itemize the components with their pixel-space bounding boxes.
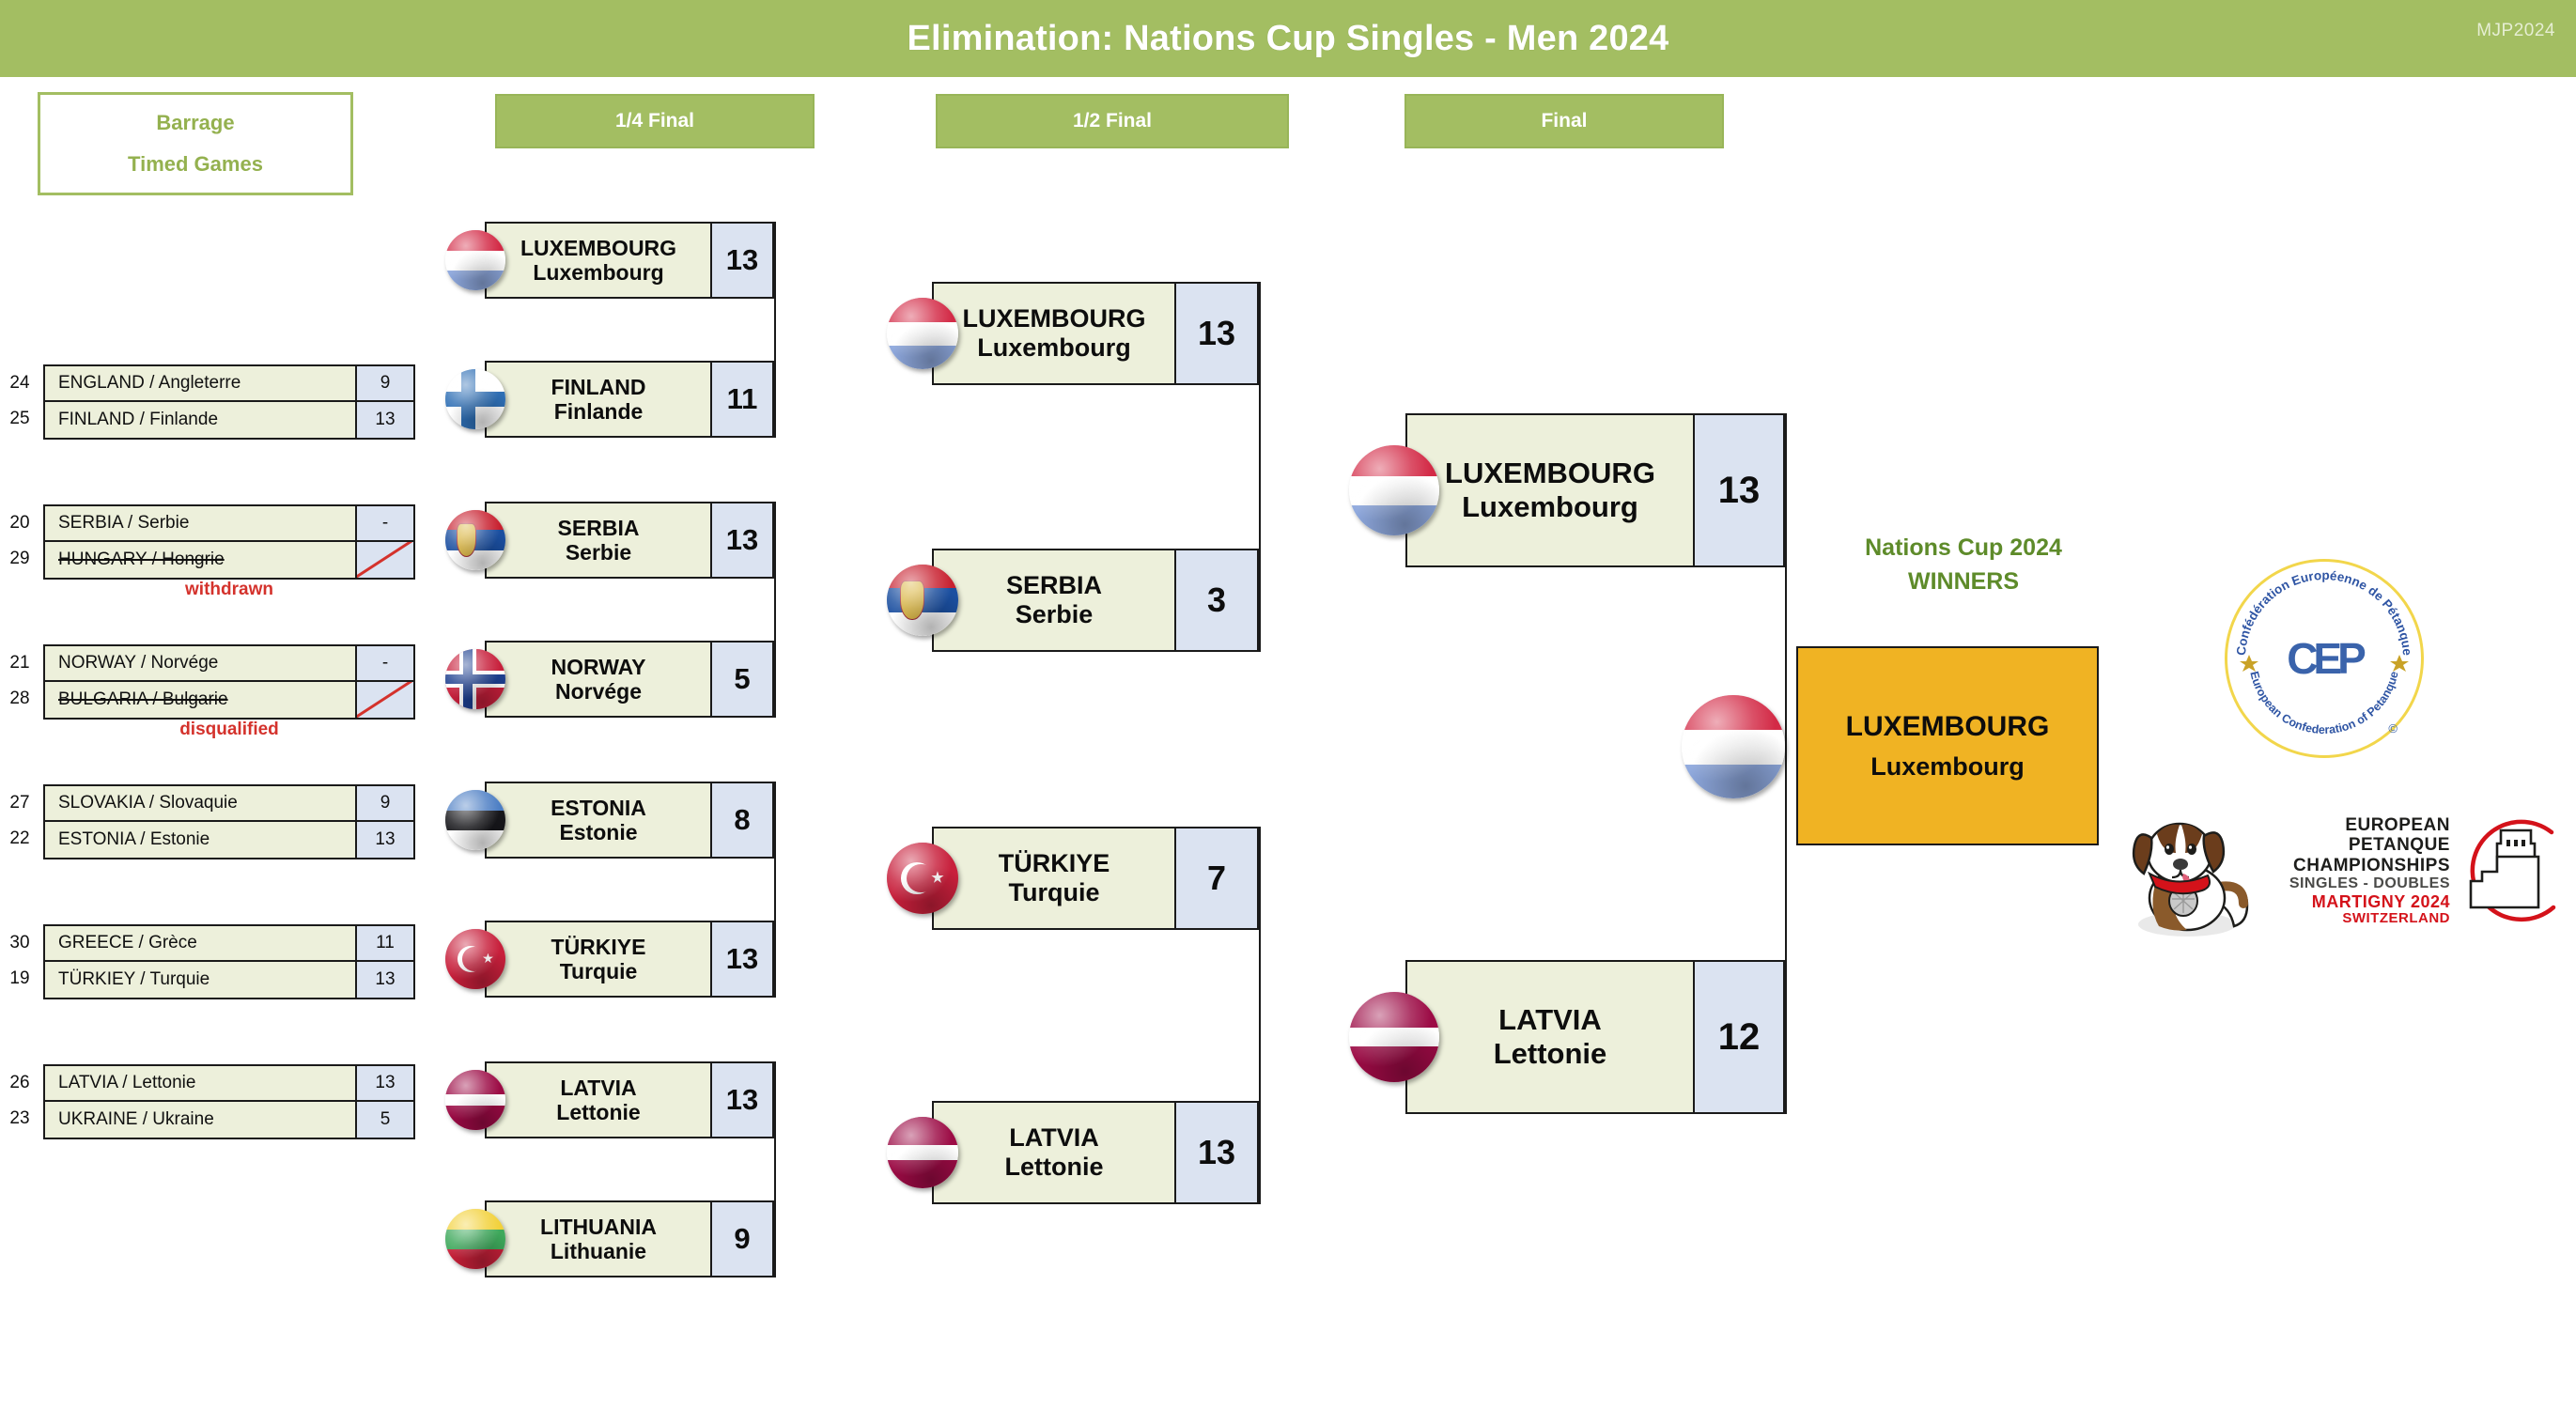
connector-qf-1 [774, 222, 776, 438]
barrage-score: 13 [355, 822, 413, 858]
qf-match-4-name: NORWAYNorvége [487, 643, 710, 716]
sf-match-2-name: SERBIASerbie [934, 550, 1174, 650]
connector-sf-2 [1259, 827, 1261, 1204]
barrage-team-name: SERBIA / Serbie [45, 506, 355, 540]
sf-match-4-name-fr: Lettonie [1005, 1153, 1104, 1182]
qf-match-3-score: 13 [710, 503, 772, 577]
barrage-row: UKRAINE / Ukraine5 [45, 1102, 413, 1138]
final-match-1-flag-luxembourg [1349, 445, 1439, 535]
round-label-final: Final [1404, 94, 1724, 148]
barrage-score: 5 [355, 1102, 413, 1138]
martigny-line-6: SWITZERLAND [2266, 911, 2450, 927]
sf-match-4-score: 13 [1174, 1103, 1257, 1202]
barrage-table-2: SERBIA / Serbie-HUNGARY / Hongrie [43, 504, 415, 580]
qf-match-2-name-en: FINLAND [551, 375, 646, 399]
barrage-row: ESTONIA / Estonie13 [45, 822, 413, 858]
round-label-barrage: Barrage Timed Games [38, 92, 353, 195]
qf-match-2-name-fr: Finlande [554, 399, 644, 424]
qf-match-5-score: 8 [710, 783, 772, 857]
qf-match-7-flag-latvia [445, 1070, 505, 1130]
sf-match-2-name-en: SERBIA [1006, 571, 1102, 600]
barrage-score: 13 [355, 1066, 413, 1100]
qf-match-8-flag-lithuania [445, 1209, 505, 1269]
qf-match-7-name-fr: Lettonie [556, 1100, 640, 1124]
barrage-team-name: HUNGARY / Hongrie [45, 542, 355, 578]
barrage-score: 13 [355, 962, 413, 998]
qf-match-6[interactable]: TÜRKIYETurquie13 [485, 921, 774, 998]
page-header: Elimination: Nations Cup Singles - Men 2… [0, 0, 2576, 77]
page-title: Elimination: Nations Cup Singles - Men 2… [908, 19, 1669, 59]
martigny-line-1: EUROPEAN [2266, 815, 2450, 835]
connector-qf-4 [774, 1061, 776, 1277]
barrage-seed: 20 [0, 513, 39, 534]
sf-match-1[interactable]: LUXEMBOURGLuxembourg13 [932, 282, 1259, 385]
barrage-team-name: UKRAINE / Ukraine [45, 1102, 355, 1138]
sf-match-3-name-en: TÜRKIYE [999, 849, 1110, 878]
barrage-sublabel-text: Timed Games [128, 152, 263, 177]
barrage-table-4: SLOVAKIA / Slovaquie9ESTONIA / Estonie13 [43, 784, 415, 859]
barrage-row: HUNGARY / Hongrie [45, 542, 413, 578]
barrage-row: TÜRKIEY / Turquie13 [45, 962, 413, 998]
barrage-row: LATVIA / Lettonie13 [45, 1066, 413, 1102]
sf-match-2-flag-serbia [887, 565, 958, 636]
final-match-1-name: LUXEMBOURGLuxembourg [1407, 415, 1693, 565]
final-match-1[interactable]: LUXEMBOURGLuxembourg13 [1405, 413, 1785, 567]
barrage-team-name: GREECE / Grèce [45, 926, 355, 960]
barrage-seed: 26 [0, 1073, 39, 1093]
qf-match-4-score: 5 [710, 643, 772, 716]
round-label-semi-final: 1/2 Final [936, 94, 1289, 148]
qf-match-7-name-en: LATVIA [560, 1076, 636, 1100]
winner-name-fr: Luxembourg [1870, 752, 2025, 782]
watermark-label: MJP2024 [2476, 21, 2555, 41]
qf-match-6-flag-turkiye [445, 929, 505, 989]
barrage-seed: 25 [0, 409, 39, 429]
cep-logo: Confédération Européenne de Pétanque Eur… [2225, 559, 2424, 758]
qf-match-3-name-fr: Serbie [566, 540, 631, 565]
sf-match-4-name-en: LATVIA [1009, 1123, 1099, 1153]
barrage-row: BULGARIA / Bulgarie [45, 682, 413, 718]
martigny-logo-text: EUROPEAN PETANQUE CHAMPIONSHIPS SINGLES … [2266, 815, 2450, 927]
sf-match-1-name-en: LUXEMBOURG [963, 304, 1146, 333]
final-match-2-name-fr: Lettonie [1494, 1037, 1607, 1071]
barrage-team-name: ENGLAND / Angleterre [45, 366, 355, 400]
final-match-2-name: LATVIALettonie [1407, 962, 1693, 1112]
cep-copyright: © [2388, 721, 2398, 735]
barrage-seed: 24 [0, 373, 39, 394]
martigny-line-3: CHAMPIONSHIPS [2266, 856, 2450, 875]
connector-final-1 [1785, 413, 1787, 1114]
barrage-score [355, 682, 413, 718]
barrage-team-name: ESTONIA / Estonie [45, 822, 355, 858]
qf-match-5[interactable]: ESTONIAEstonie8 [485, 782, 774, 859]
qf-match-7-score: 13 [710, 1063, 772, 1137]
sf-match-4-flag-latvia [887, 1117, 958, 1188]
qf-match-2-score: 11 [710, 363, 772, 436]
martigny-logo: EUROPEAN PETANQUE CHAMPIONSHIPS SINGLES … [2125, 808, 2548, 949]
round-label-quarter-final: 1/4 Final [495, 94, 815, 148]
qf-match-3-name-en: SERBIA [558, 516, 640, 540]
qf-match-1-name-fr: Luxembourg [533, 260, 663, 285]
qf-match-7-name: LATVIALettonie [487, 1063, 710, 1137]
qf-match-8-score: 9 [710, 1202, 772, 1276]
barrage-table-1: ENGLAND / Angleterre9FINLAND / Finlande1… [43, 364, 415, 440]
barrage-row: GREECE / Grèce11 [45, 926, 413, 962]
winner-caption-line1: Nations Cup 2024 [1808, 531, 2118, 565]
qf-match-4-name-en: NORWAY [551, 655, 646, 679]
martigny-line-4: SINGLES - DOUBLES [2266, 875, 2450, 892]
winner-caption: Nations Cup 2024 WINNERS [1808, 531, 2118, 599]
barrage-team-name: NORWAY / Norvége [45, 646, 355, 680]
barrage-seed: 19 [0, 968, 39, 989]
qf-match-1-flag-luxembourg [445, 230, 505, 290]
barrage-label-text: Barrage [156, 111, 234, 135]
barrage-score: 9 [355, 366, 413, 400]
qf-match-5-name-en: ESTONIA [551, 796, 646, 820]
barrage-team-name: FINLAND / Finlande [45, 402, 355, 438]
sf-match-3-score: 7 [1174, 828, 1257, 928]
barrage-score: - [355, 506, 413, 540]
barrage-table-5: GREECE / Grèce11TÜRKIEY / Turquie13 [43, 924, 415, 999]
qf-match-2-flag-finland [445, 369, 505, 429]
sf-match-1-score: 13 [1174, 284, 1257, 383]
qf-match-4-flag-norway [445, 649, 505, 709]
sf-match-3-flag-turkiye [887, 843, 958, 914]
sf-match-3[interactable]: TÜRKIYETurquie7 [932, 827, 1259, 930]
martigny-tower-icon [2452, 817, 2560, 930]
barrage-score: 13 [355, 402, 413, 438]
connector-qf-2 [774, 502, 776, 718]
barrage-table-3: NORWAY / Norvége-BULGARIA / Bulgarie [43, 644, 415, 720]
qf-match-3-name: SERBIASerbie [487, 503, 710, 577]
qf-match-4[interactable]: NORWAYNorvége5 [485, 641, 774, 718]
qf-match-3[interactable]: SERBIASerbie13 [485, 502, 774, 579]
qf-match-5-name-fr: Estonie [559, 820, 637, 844]
barrage-table-6: LATVIA / Lettonie13UKRAINE / Ukraine5 [43, 1064, 415, 1139]
qf-match-1-name: LUXEMBOURGLuxembourg [487, 224, 710, 297]
qf-match-6-score: 13 [710, 922, 772, 996]
barrage-row: SERBIA / Serbie- [45, 506, 413, 542]
qf-match-4-name-fr: Norvége [555, 679, 642, 704]
sf-match-2-score: 3 [1174, 550, 1257, 650]
barrage-row: SLOVAKIA / Slovaquie9 [45, 786, 413, 822]
barrage-team-name: TÜRKIEY / Turquie [45, 962, 355, 998]
barrage-seed: 27 [0, 793, 39, 813]
qf-match-7[interactable]: LATVIALettonie13 [485, 1061, 774, 1138]
martigny-line-2: PETANQUE [2266, 835, 2450, 855]
barrage-note: withdrawn [43, 580, 415, 600]
qf-match-1-name-en: LUXEMBOURG [520, 236, 676, 260]
winner-flag-luxembourg [1682, 695, 1785, 798]
sf-match-2-name-fr: Serbie [1016, 600, 1094, 629]
final-match-1-name-fr: Luxembourg [1462, 490, 1638, 524]
final-match-2[interactable]: LATVIALettonie12 [1405, 960, 1785, 1114]
barrage-team-name: BULGARIA / Bulgarie [45, 682, 355, 718]
sf-match-3-name-fr: Turquie [1009, 878, 1100, 907]
connector-qf-3 [774, 782, 776, 998]
dog-mascot-icon [2125, 812, 2257, 943]
barrage-seed: 22 [0, 828, 39, 849]
qf-match-8-name-en: LITHUANIA [540, 1215, 657, 1239]
final-match-2-flag-latvia [1349, 992, 1439, 1082]
sf-match-2[interactable]: SERBIASerbie3 [932, 549, 1259, 652]
sf-match-1-name-fr: Luxembourg [977, 333, 1131, 363]
qf-match-3-flag-serbia [445, 510, 505, 570]
qf-match-6-name-en: TÜRKIYE [551, 935, 646, 959]
cep-logo-monogram: CEP [2272, 632, 2377, 685]
sf-match-1-name: LUXEMBOURGLuxembourg [934, 284, 1174, 383]
barrage-seed: 21 [0, 653, 39, 674]
qf-match-5-name: ESTONIAEstonie [487, 783, 710, 857]
barrage-seed: 28 [0, 689, 39, 709]
qf-match-6-name-fr: Turquie [560, 959, 638, 983]
barrage-seed: 30 [0, 933, 39, 953]
barrage-row: FINLAND / Finlande13 [45, 402, 413, 438]
qf-match-8[interactable]: LITHUANIALithuanie9 [485, 1200, 774, 1277]
barrage-row: ENGLAND / Angleterre9 [45, 366, 413, 402]
final-match-1-score: 13 [1693, 415, 1783, 565]
sf-match-4-name: LATVIALettonie [934, 1103, 1174, 1202]
barrage-seed: 29 [0, 549, 39, 569]
barrage-score: 9 [355, 786, 413, 820]
qf-match-2-name: FINLANDFinlande [487, 363, 710, 436]
barrage-score [355, 542, 413, 578]
barrage-note: disqualified [43, 720, 415, 740]
sf-match-3-name: TÜRKIYETurquie [934, 828, 1174, 928]
final-match-2-name-en: LATVIA [1498, 1003, 1602, 1037]
winner-caption-line2: WINNERS [1808, 565, 2118, 598]
winner-name-en: LUXEMBOURG [1846, 711, 2050, 743]
qf-match-8-name: LITHUANIALithuanie [487, 1202, 710, 1276]
qf-match-1-score: 13 [710, 224, 772, 297]
barrage-score: - [355, 646, 413, 680]
qf-match-6-name: TÜRKIYETurquie [487, 922, 710, 996]
barrage-row: NORWAY / Norvége- [45, 646, 413, 682]
final-match-2-score: 12 [1693, 962, 1783, 1112]
martigny-line-5: MARTIGNY 2024 [2266, 892, 2450, 911]
barrage-score: 11 [355, 926, 413, 960]
barrage-seed: 23 [0, 1108, 39, 1129]
winner-box[interactable]: LUXEMBOURG Luxembourg [1796, 646, 2099, 845]
sf-match-1-flag-luxembourg [887, 298, 958, 369]
qf-match-1[interactable]: LUXEMBOURGLuxembourg13 [485, 222, 774, 299]
qf-match-5-flag-estonia [445, 790, 505, 850]
qf-match-2[interactable]: FINLANDFinlande11 [485, 361, 774, 438]
barrage-team-name: SLOVAKIA / Slovaquie [45, 786, 355, 820]
qf-match-8-name-fr: Lithuanie [551, 1239, 646, 1263]
final-match-1-name-en: LUXEMBOURG [1445, 457, 1655, 490]
barrage-team-name: LATVIA / Lettonie [45, 1066, 355, 1100]
sf-match-4[interactable]: LATVIALettonie13 [932, 1101, 1259, 1204]
connector-sf-1 [1259, 282, 1261, 652]
